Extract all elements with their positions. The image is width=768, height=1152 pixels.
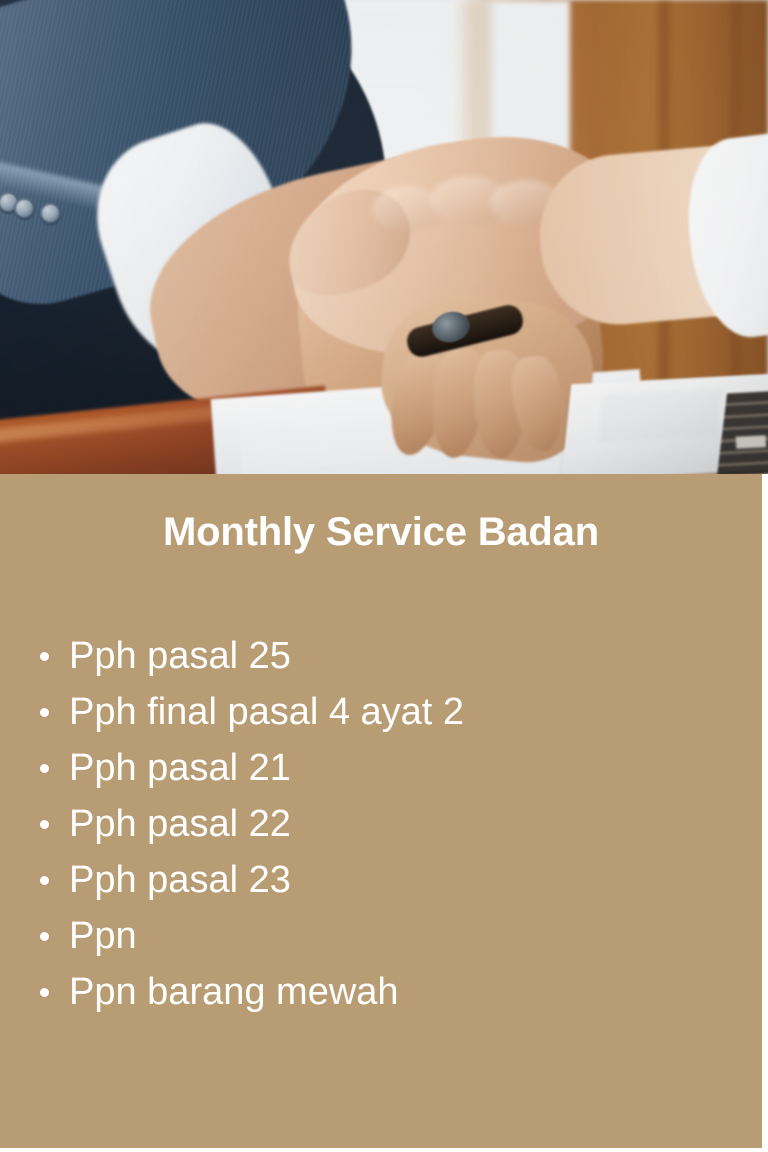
list-item-label: Pph pasal 23 (69, 859, 291, 901)
list-item-label: Pph pasal 25 (69, 635, 291, 677)
list-item: Pph pasal 21 (40, 740, 464, 796)
list-item: Pph final pasal 4 ayat 2 (40, 684, 464, 740)
laptop-key-highlight (736, 435, 767, 449)
list-item-label: Pph pasal 22 (69, 803, 291, 845)
list-item: Pph pasal 25 (40, 628, 464, 684)
list-item: Pph pasal 23 (40, 852, 464, 908)
list-item-label: Ppn (69, 915, 137, 957)
list-item-label: Pph pasal 21 (69, 747, 291, 789)
laptop-trackpad (598, 389, 723, 444)
sleeve-button-icon (40, 203, 61, 224)
poster-canvas: Monthly Service Badan Pph pasal 25 Pph f… (0, 0, 768, 1152)
list-item: Pph pasal 22 (40, 796, 464, 852)
bullet-icon (40, 652, 49, 661)
service-list: Pph pasal 25 Pph final pasal 4 ayat 2 Pp… (40, 628, 464, 1020)
content-panel: Monthly Service Badan Pph pasal 25 Pph f… (0, 474, 762, 1148)
handshake-photo (0, 0, 768, 474)
list-item-label: Ppn barang mewah (69, 971, 399, 1013)
bullet-icon (40, 988, 49, 997)
bullet-icon (40, 708, 49, 717)
bullet-icon (40, 876, 49, 885)
bullet-icon (40, 764, 49, 773)
bullet-icon (40, 932, 49, 941)
list-item: Ppn barang mewah (40, 964, 464, 1020)
bullet-icon (40, 820, 49, 829)
sleeve-button-icon (14, 198, 35, 219)
list-item: Ppn (40, 908, 464, 964)
page-title: Monthly Service Badan (0, 510, 762, 554)
list-item-label: Pph final pasal 4 ayat 2 (69, 691, 464, 733)
